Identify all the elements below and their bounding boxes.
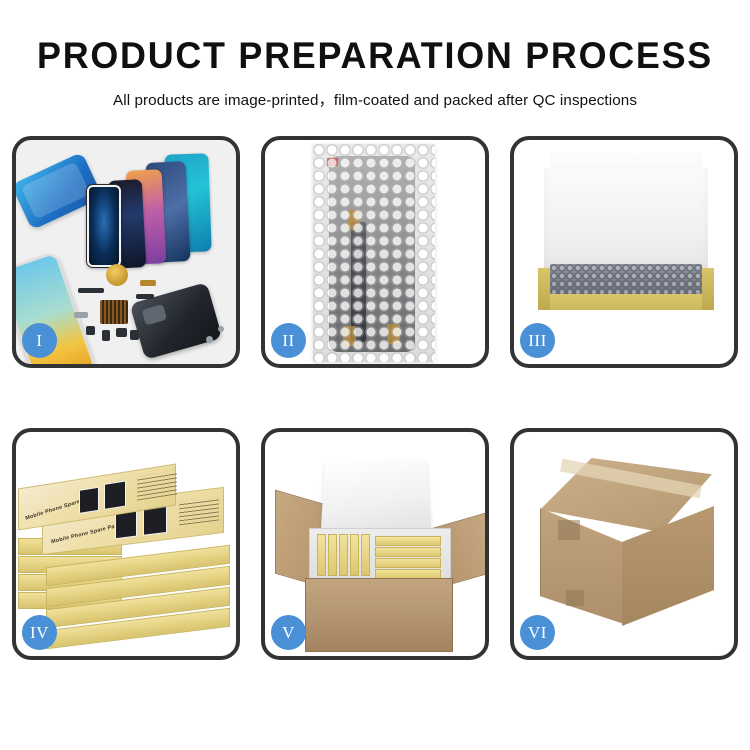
step-badge-6: VI bbox=[520, 615, 555, 650]
page-subtitle: All products are image-printed，film-coat… bbox=[0, 88, 750, 110]
step-badge-4: IV bbox=[22, 615, 57, 650]
spare-part-chip-a bbox=[86, 326, 95, 335]
page-title: PRODUCT PREPARATION PROCESS bbox=[11, 36, 739, 77]
box-window-left bbox=[115, 511, 137, 540]
spare-part-connector-grid bbox=[100, 300, 128, 324]
bubble-wrap-bag bbox=[313, 144, 435, 362]
box-window-right bbox=[104, 480, 126, 509]
spare-part-chip-d bbox=[130, 330, 139, 340]
spare-part-flex bbox=[136, 294, 154, 299]
spare-part-brass-clip bbox=[140, 280, 156, 286]
process-step-panel-1[interactable]: I bbox=[12, 136, 240, 368]
process-step-panel-4[interactable]: Mobile Phone Spare Parts Mobile Phone Sp… bbox=[12, 428, 240, 660]
spare-part-screw bbox=[206, 336, 213, 343]
spare-part-chip-b bbox=[102, 330, 110, 341]
box-lid-text: Mobile Phone Spare Parts bbox=[51, 522, 123, 545]
spare-part-strip bbox=[78, 288, 104, 293]
spare-part-screw-2 bbox=[218, 326, 224, 332]
process-step-panel-3[interactable]: III bbox=[510, 136, 738, 368]
phone-front-glass bbox=[86, 184, 122, 268]
carton-front-panel bbox=[305, 578, 453, 652]
carton-tab-lower bbox=[566, 590, 584, 606]
packed-yellow-box bbox=[328, 534, 337, 576]
packed-yellow-box bbox=[361, 534, 370, 576]
process-step-panel-2[interactable]: II bbox=[261, 136, 489, 368]
process-step-panel-5[interactable]: V bbox=[261, 428, 489, 660]
box-spec-lines bbox=[137, 470, 177, 500]
step-badge-1: I bbox=[22, 323, 57, 358]
foam-lid-open bbox=[321, 460, 431, 530]
page-header: PRODUCT PREPARATION PROCESS All products… bbox=[0, 0, 750, 110]
process-step-panel-6[interactable]: VI bbox=[510, 428, 738, 660]
yellow-box-right-lip bbox=[702, 268, 714, 310]
box-window-left bbox=[79, 487, 99, 514]
carton-left-face bbox=[540, 508, 624, 624]
packed-yellow-box bbox=[350, 534, 359, 576]
yellow-box-left-lip bbox=[538, 268, 550, 310]
step-badge-2: II bbox=[271, 323, 306, 358]
packed-yellow-box bbox=[339, 534, 348, 576]
step-badge-3: III bbox=[520, 323, 555, 358]
spare-part-bracket bbox=[74, 312, 88, 318]
product-preparation-process-page: PRODUCT PREPARATION PROCESS All products… bbox=[0, 0, 750, 750]
foam-lining bbox=[544, 168, 708, 274]
packed-yellow-box-flat bbox=[375, 558, 441, 568]
step-badge-5: V bbox=[271, 615, 306, 650]
spare-part-chip-c bbox=[116, 328, 127, 337]
packed-yellow-box bbox=[317, 534, 326, 576]
box-spec-lines bbox=[179, 496, 219, 525]
grey-bubble-wrapped-contents bbox=[550, 264, 702, 294]
carton-tab-upper bbox=[558, 520, 580, 540]
process-steps-grid: I II bbox=[12, 136, 738, 660]
packed-yellow-box-flat bbox=[375, 536, 441, 546]
spare-part-gold-disc bbox=[106, 264, 128, 286]
bubble-texture-overlay bbox=[313, 144, 435, 362]
packed-yellow-box-flat bbox=[375, 547, 441, 557]
